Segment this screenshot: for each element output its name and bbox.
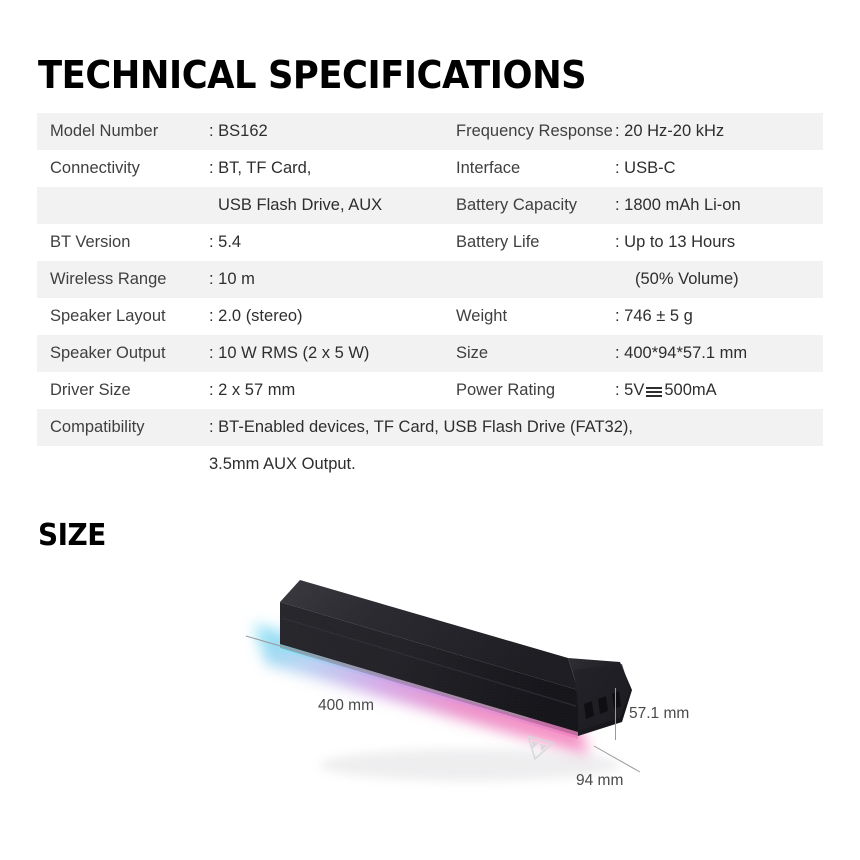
dimension-height-label: 57.1 mm [629, 705, 689, 723]
row-right-pair: Battery Capacity : 1800 mAh Li-on [443, 187, 823, 224]
spec-label: BT Version [37, 233, 209, 252]
spec-value: : 5.4 [209, 233, 443, 252]
power-rating-voltage: : 5V [615, 381, 644, 399]
soundbar-illustration [170, 540, 730, 830]
spec-label: Weight [443, 307, 615, 326]
spec-label: Power Rating [443, 381, 615, 400]
spec-label: Speaker Layout [37, 307, 209, 326]
spec-label: Interface [443, 159, 615, 178]
row-left-pair: Speaker Output : 10 W RMS (2 x 5 W) [37, 335, 443, 372]
spec-value: : 10 W RMS (2 x 5 W) [209, 344, 443, 363]
spec-value: : 1800 mAh Li-on [615, 196, 823, 215]
row-right-pair: Size : 400*94*57.1 mm [443, 335, 823, 372]
spec-label: Size [443, 344, 615, 363]
table-row: USB Flash Drive, AUX Battery Capacity : … [37, 187, 823, 224]
technical-specifications-table: Model Number : BS162 Frequency Response … [37, 113, 823, 483]
spec-label: Frequency Response [443, 122, 615, 141]
spec-value-continuation: 3.5mm AUX Output. [209, 455, 823, 474]
spec-value: : BT-Enabled devices, TF Card, USB Flash… [209, 418, 823, 437]
row-left-pair: Model Number : BS162 [37, 113, 443, 150]
table-row-compatibility-continued: 3.5mm AUX Output. [37, 446, 823, 483]
spec-value-power-rating: : 5V500mA [615, 381, 823, 400]
spec-value: : Up to 13 Hours [615, 233, 823, 252]
row-right-pair: Weight : 746 ± 5 g [443, 298, 823, 335]
row-right-pair: Power Rating : 5V500mA [443, 372, 823, 409]
spec-value: : 2.0 (stereo) [209, 307, 443, 326]
spec-label: Connectivity [37, 159, 209, 178]
spec-value: : 2 x 57 mm [209, 381, 443, 400]
spec-label: Model Number [37, 122, 209, 141]
table-row-compatibility: Compatibility : BT-Enabled devices, TF C… [37, 409, 823, 446]
spec-label: Battery Life [443, 233, 615, 252]
floor-shadow [320, 749, 620, 781]
product-image-soundbar [170, 540, 730, 830]
table-row: Speaker Layout : 2.0 (stereo) Weight : 7… [37, 298, 823, 335]
row-left-pair: Connectivity : BT, TF Card, [37, 150, 443, 187]
row-right-pair: (50% Volume) [443, 261, 823, 298]
row-left-pair: Wireless Range : 10 m [37, 261, 443, 298]
row-right-pair: Interface : USB-C [443, 150, 823, 187]
dimension-length-label: 400 mm [318, 697, 374, 715]
spec-value: : 20 Hz-20 kHz [615, 122, 823, 141]
spec-value-continuation: (50% Volume) [615, 270, 823, 289]
spec-value: : BS162 [209, 122, 443, 141]
spec-label: Battery Capacity [443, 196, 615, 215]
spec-value: : 746 ± 5 g [615, 307, 823, 326]
row-right-pair: Frequency Response : 20 Hz-20 kHz [443, 113, 823, 150]
spec-label: Driver Size [37, 381, 209, 400]
row-left-pair: Speaker Layout : 2.0 (stereo) [37, 298, 443, 335]
row-left-pair: Driver Size : 2 x 57 mm [37, 372, 443, 409]
table-row: Wireless Range : 10 m (50% Volume) [37, 261, 823, 298]
spec-label: Speaker Output [37, 344, 209, 363]
spec-label: Compatibility [37, 418, 209, 437]
height-dimension-line [615, 688, 616, 740]
spec-value: : 400*94*57.1 mm [615, 344, 823, 363]
spec-value-continuation: USB Flash Drive, AUX [209, 196, 443, 215]
spec-value: : USB-C [615, 159, 823, 178]
power-rating-current: 500mA [664, 381, 716, 399]
spec-value: : BT, TF Card, [209, 159, 443, 178]
dc-current-symbol-icon [646, 385, 662, 397]
table-row: BT Version : 5.4 Battery Life : Up to 13… [37, 224, 823, 261]
table-row: Model Number : BS162 Frequency Response … [37, 113, 823, 150]
table-row: Connectivity : BT, TF Card, Interface : … [37, 150, 823, 187]
table-row: Speaker Output : 10 W RMS (2 x 5 W) Size… [37, 335, 823, 372]
page-title: TECHNICAL SPECIFICATIONS [38, 54, 586, 96]
dimension-depth-label: 94 mm [576, 772, 623, 790]
size-section-title: SIZE [38, 519, 106, 553]
spec-value: : 10 m [209, 270, 443, 289]
row-left-pair: USB Flash Drive, AUX [37, 187, 443, 224]
spec-label: Wireless Range [37, 270, 209, 289]
row-right-pair: Battery Life : Up to 13 Hours [443, 224, 823, 261]
row-left-pair: BT Version : 5.4 [37, 224, 443, 261]
table-row: Driver Size : 2 x 57 mm Power Rating : 5… [37, 372, 823, 409]
